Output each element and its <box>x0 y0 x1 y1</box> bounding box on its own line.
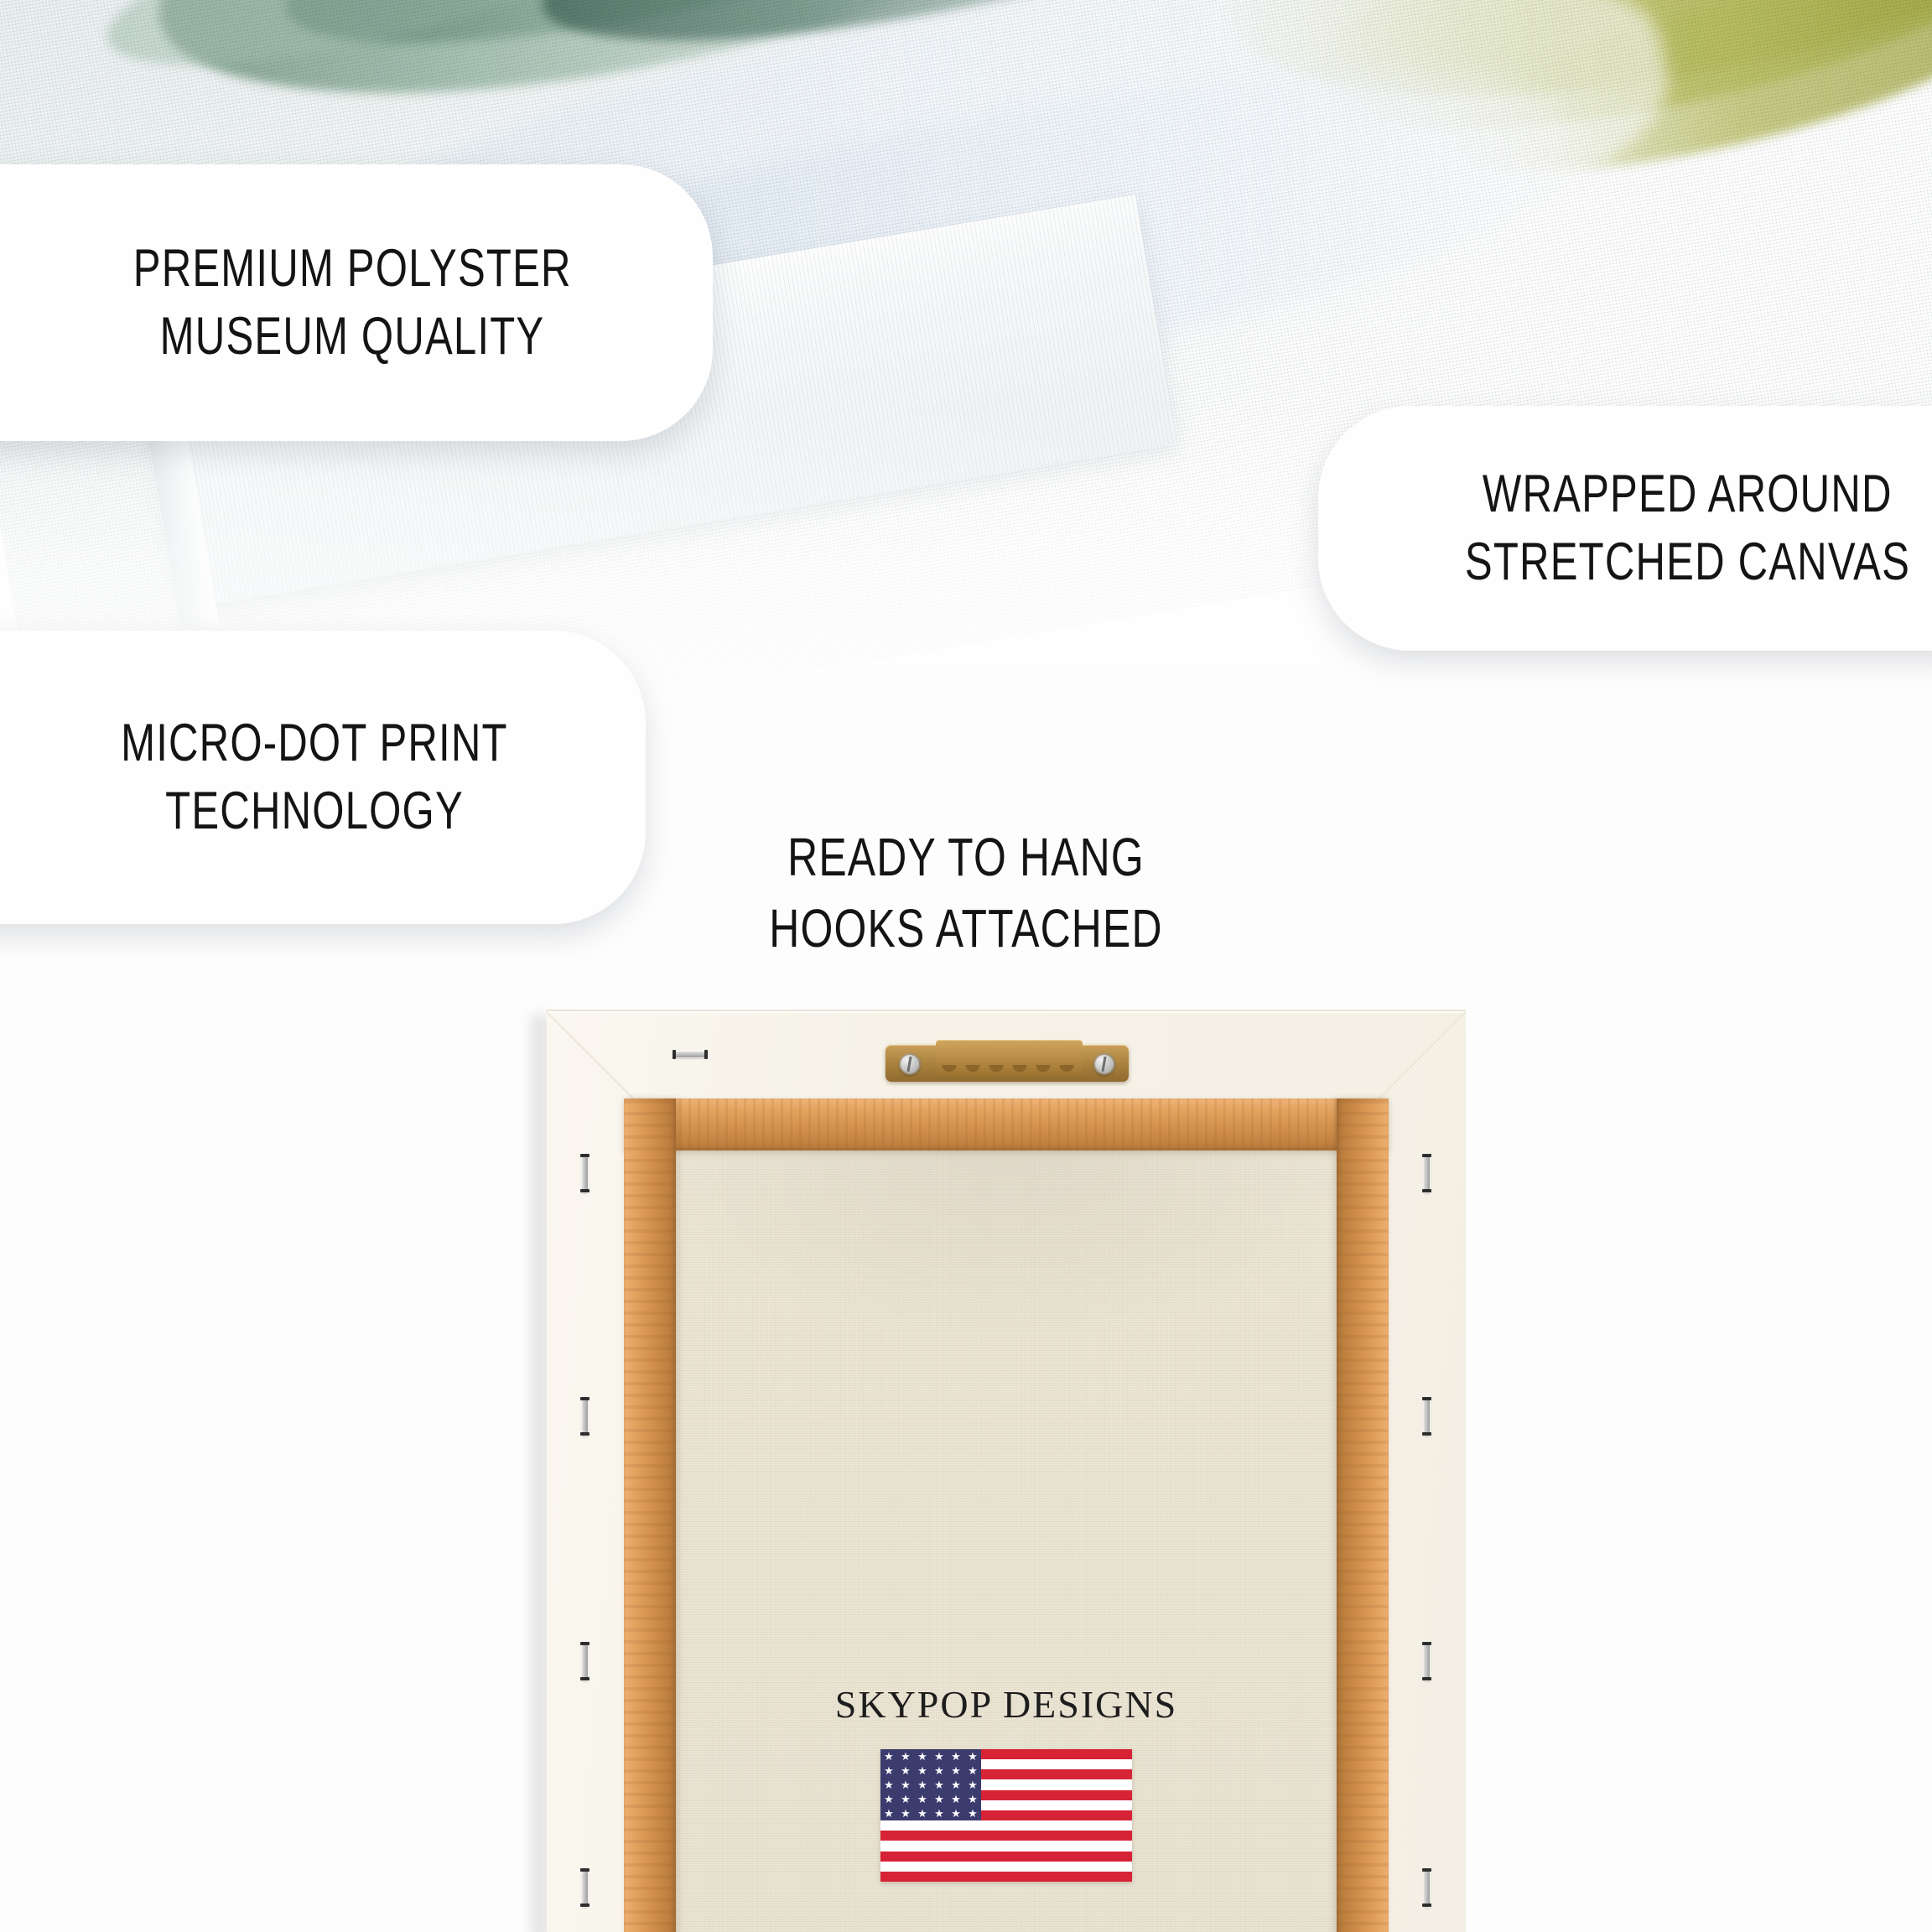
flag-star: ★ <box>951 1794 961 1805</box>
feature-line-1: WRAPPED AROUND <box>1483 460 1893 528</box>
flag-star: ★ <box>884 1765 894 1776</box>
flag-star: ★ <box>968 1765 978 1776</box>
flag-star: ★ <box>951 1808 961 1819</box>
flag-star: ★ <box>951 1779 961 1790</box>
flag-star: ★ <box>917 1808 927 1819</box>
flag-star: ★ <box>884 1808 894 1819</box>
flag-star: ★ <box>951 1751 961 1762</box>
flag-star: ★ <box>951 1765 961 1776</box>
staple <box>1424 1642 1430 1680</box>
flag-star: ★ <box>884 1794 894 1805</box>
staple <box>1424 1397 1430 1436</box>
stretcher-bar-left <box>624 1098 676 1932</box>
hanger-screw-left <box>899 1053 921 1075</box>
flag-star: ★ <box>917 1765 927 1776</box>
brand-label: SKYPOP DESIGNS <box>624 1682 1389 1727</box>
flag-stripe <box>880 1831 1132 1841</box>
flag-star: ★ <box>968 1779 978 1790</box>
canvas-wrap-back: SKYPOP DESIGNS ★★★★★★★★★★★★★★★★★★★★★★★★★… <box>547 1010 1466 1932</box>
feature-badge-premium-polyster: PREMIUM POLYSTER MUSEUM QUALITY <box>0 164 713 441</box>
flag-star: ★ <box>934 1751 944 1762</box>
flag-star: ★ <box>934 1794 944 1805</box>
feature-line-2: TECHNOLOGY <box>165 777 464 845</box>
feature-badge-micro-dot-print: MICRO-DOT PRINT TECHNOLOGY <box>0 631 646 924</box>
flag-star: ★ <box>901 1808 911 1819</box>
flag-star: ★ <box>934 1765 944 1776</box>
flag-star: ★ <box>934 1808 944 1819</box>
flag-stripe <box>880 1851 1132 1862</box>
staple <box>673 1052 708 1057</box>
feature-line-2: MUSEUM QUALITY <box>160 303 545 371</box>
flag-star: ★ <box>901 1751 911 1762</box>
feature-line-1: READY TO HANG <box>714 822 1217 893</box>
staple <box>1424 1868 1430 1907</box>
stretcher-bar-right <box>1337 1098 1389 1932</box>
flag-star: ★ <box>917 1779 927 1790</box>
staple <box>582 1642 588 1680</box>
staple <box>582 1154 588 1192</box>
flag-stripe <box>880 1862 1132 1872</box>
feature-line-2: HOOKS ATTACHED <box>714 893 1217 964</box>
flag-star: ★ <box>884 1751 894 1762</box>
flag-star: ★ <box>917 1794 927 1805</box>
united-states-flag-icon: ★★★★★★★★★★★★★★★★★★★★★★★★★★★★★★ <box>880 1749 1132 1882</box>
feature-line-1: PREMIUM POLYSTER <box>133 235 572 303</box>
hanger-teeth <box>941 1065 1078 1078</box>
flag-stripe <box>880 1820 1132 1831</box>
infographic-canvas: PREMIUM POLYSTER MUSEUM QUALITY WRAPPED … <box>0 0 1932 1932</box>
feature-label-ready-to-hang: READY TO HANG HOOKS ATTACHED <box>644 822 1288 964</box>
feature-badge-wrapped-around: WRAPPED AROUND STRETCHED CANVAS <box>1318 406 1932 651</box>
flag-star: ★ <box>968 1751 978 1762</box>
staple <box>582 1868 588 1907</box>
flag-star: ★ <box>901 1765 911 1776</box>
flag-star: ★ <box>901 1794 911 1805</box>
flag-star: ★ <box>884 1779 894 1790</box>
sawtooth-hanger-icon <box>885 1040 1129 1087</box>
flag-star: ★ <box>901 1779 911 1790</box>
flag-star: ★ <box>968 1808 978 1819</box>
flag-canton: ★★★★★★★★★★★★★★★★★★★★★★★★★★★★★★ <box>880 1749 981 1820</box>
hanger-screw-right <box>1093 1053 1115 1075</box>
canvas-back-photo: SKYPOP DESIGNS ★★★★★★★★★★★★★★★★★★★★★★★★★… <box>547 1010 1484 1932</box>
flag-stripe <box>880 1872 1132 1882</box>
flag-star: ★ <box>917 1751 927 1762</box>
stretcher-bar-top <box>624 1098 1389 1150</box>
flag-stripe <box>880 1841 1132 1851</box>
feature-line-1: MICRO-DOT PRINT <box>121 709 508 777</box>
staple <box>1424 1154 1430 1192</box>
flag-star: ★ <box>934 1779 944 1790</box>
staple <box>582 1397 588 1436</box>
feature-line-2: STRETCHED CANVAS <box>1464 528 1909 596</box>
flag-star: ★ <box>968 1794 978 1805</box>
